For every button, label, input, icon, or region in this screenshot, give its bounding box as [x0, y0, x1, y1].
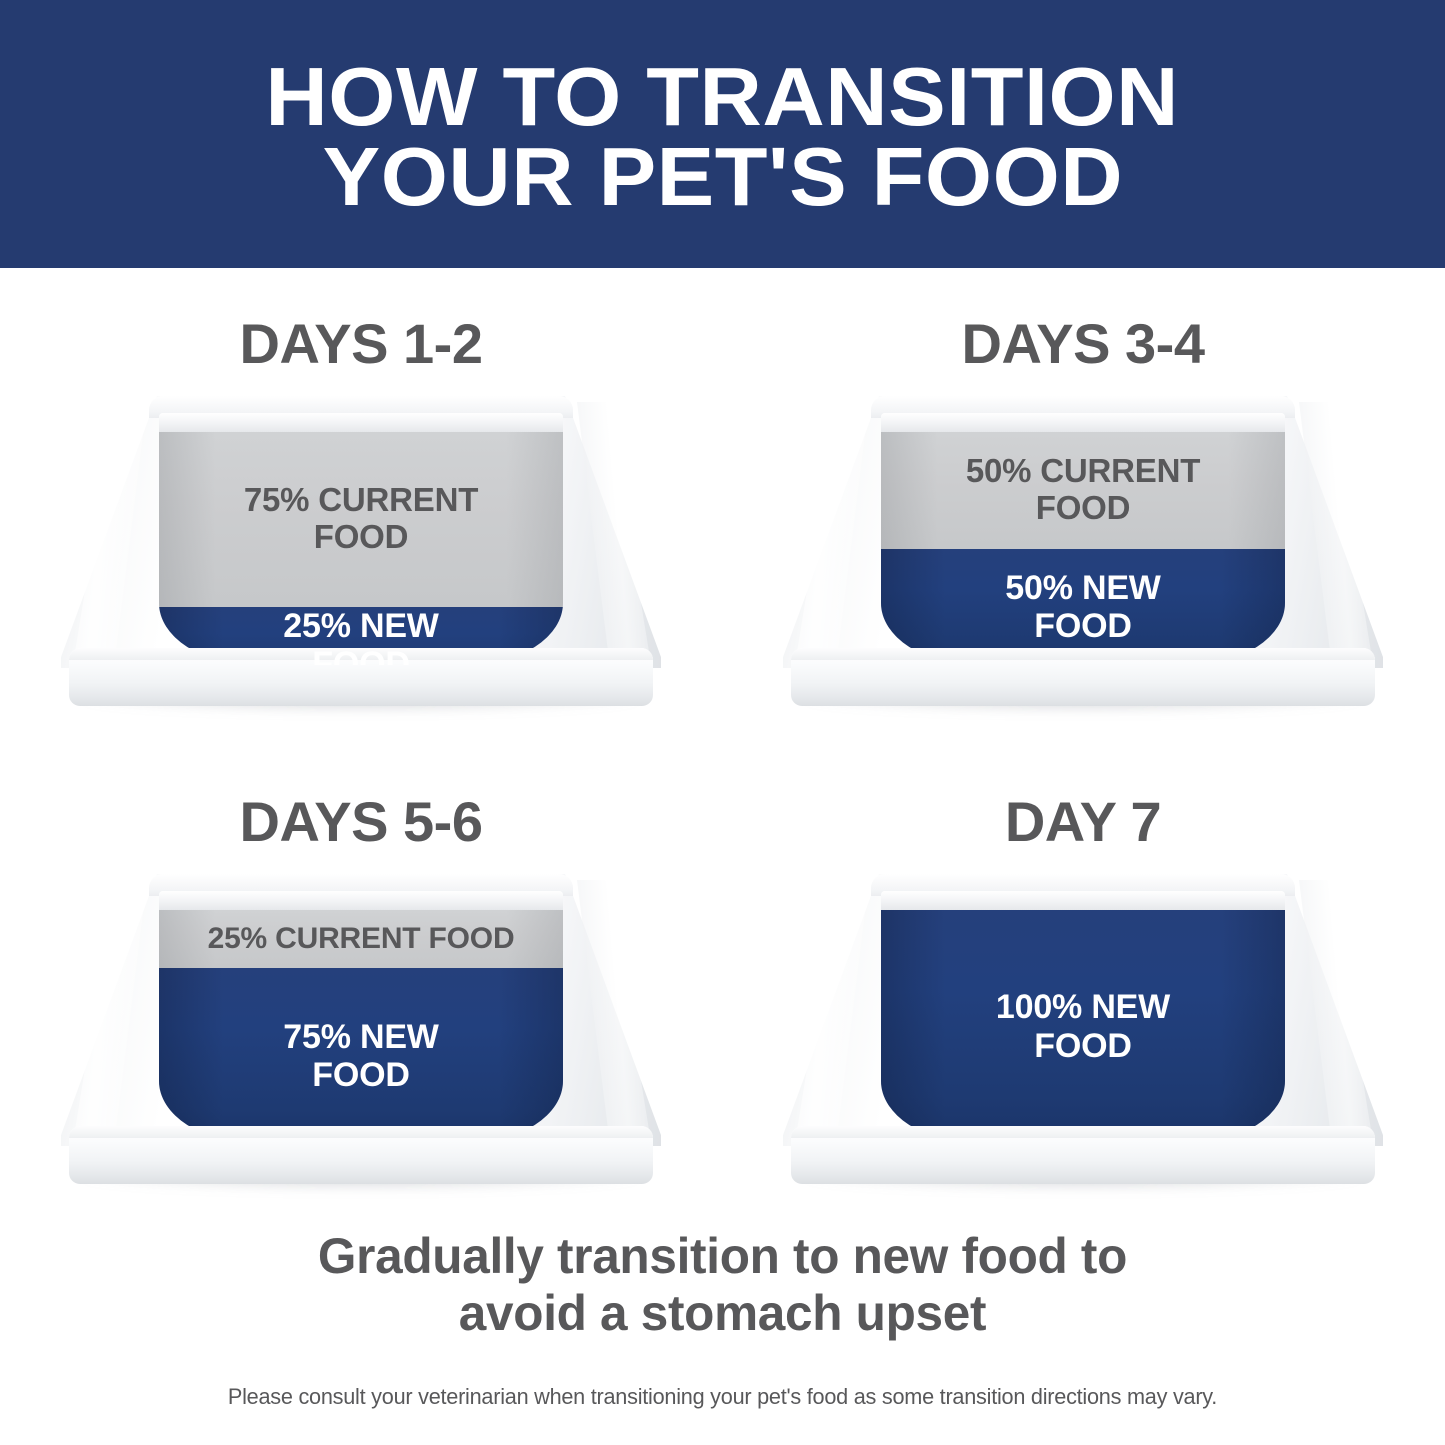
- current-food-label-1: 75% CURRENT FOOD: [236, 482, 486, 556]
- page-title-line-2: YOUR PET'S FOOD: [322, 137, 1122, 218]
- bowl-base: [791, 1126, 1375, 1184]
- pet-bowl-1: 75% CURRENT FOOD 25% NEW FOOD: [61, 396, 661, 706]
- footer-disclaimer: Please consult your veterinarian when tr…: [11, 1384, 1434, 1410]
- page-title-line-1: HOW TO TRANSITION: [266, 57, 1180, 138]
- new-food-fill-3: 75% NEW FOOD: [159, 968, 563, 1143]
- transition-step-2: DAYS 3-4 50% CURRENT FOOD 50% NEW FOOD: [722, 268, 1444, 748]
- pet-bowl-4: 100% NEW FOOD: [783, 874, 1383, 1184]
- page-header: HOW TO TRANSITION YOUR PET'S FOOD: [0, 0, 1445, 268]
- bowl-base: [791, 648, 1375, 706]
- current-food-fill-1: 75% CURRENT FOOD: [159, 432, 563, 607]
- step-title-4: DAY 7: [722, 794, 1444, 850]
- transition-step-3: DAYS 5-6 25% CURRENT FOOD 75% NEW FOOD: [0, 746, 722, 1226]
- bowl-inner-lip: [159, 413, 563, 432]
- transition-step-4: DAY 7 100% NEW FOOD: [722, 746, 1444, 1226]
- food-fill-column: 100% NEW FOOD: [881, 910, 1285, 1143]
- step-title-1: DAYS 1-2: [0, 316, 722, 372]
- current-food-fill-3: 25% CURRENT FOOD: [159, 910, 563, 968]
- pet-bowl-3: 25% CURRENT FOOD 75% NEW FOOD: [61, 874, 661, 1184]
- bowl-inner-lip: [881, 891, 1285, 910]
- page-footer: Gradually transition to new food to avoi…: [0, 1228, 1445, 1410]
- food-fill-column: 25% CURRENT FOOD 75% NEW FOOD: [159, 910, 563, 1143]
- food-fill-column: 50% CURRENT FOOD 50% NEW FOOD: [881, 432, 1285, 665]
- bowl-cavity: 50% CURRENT FOOD 50% NEW FOOD: [881, 413, 1285, 665]
- step-title-3: DAYS 5-6: [0, 794, 722, 850]
- transition-steps-grid: DAYS 1-2 75% CURRENT FOOD 25% NEW FOOD: [0, 268, 1445, 1228]
- bowl-cavity: 25% CURRENT FOOD 75% NEW FOOD: [159, 891, 563, 1143]
- current-food-label-2: 50% CURRENT FOOD: [958, 453, 1208, 527]
- bowl-cavity: 75% CURRENT FOOD 25% NEW FOOD: [159, 413, 563, 665]
- step-title-2: DAYS 3-4: [722, 316, 1444, 372]
- transition-step-1: DAYS 1-2 75% CURRENT FOOD 25% NEW FOOD: [0, 268, 722, 748]
- food-fill-column: 75% CURRENT FOOD 25% NEW FOOD: [159, 432, 563, 665]
- bowl-base: [69, 1126, 653, 1184]
- new-food-label-4: 100% NEW FOOD: [988, 988, 1178, 1064]
- bowl-inner-lip: [881, 413, 1285, 432]
- pet-bowl-2: 50% CURRENT FOOD 50% NEW FOOD: [783, 396, 1383, 706]
- new-food-label-1: 25% NEW FOOD: [275, 607, 446, 665]
- new-food-fill-4: 100% NEW FOOD: [881, 910, 1285, 1143]
- footer-message-line-1: Gradually transition to new food to: [7, 1228, 1438, 1285]
- bowl-cavity: 100% NEW FOOD: [881, 891, 1285, 1143]
- footer-message-line-2: avoid a stomach upset: [7, 1285, 1438, 1342]
- new-food-label-2: 50% NEW FOOD: [997, 569, 1168, 645]
- current-food-fill-2: 50% CURRENT FOOD: [881, 432, 1285, 549]
- bowl-inner-lip: [159, 891, 563, 910]
- current-food-label-3: 25% CURRENT FOOD: [200, 922, 523, 956]
- new-food-label-3: 75% NEW FOOD: [275, 1018, 446, 1094]
